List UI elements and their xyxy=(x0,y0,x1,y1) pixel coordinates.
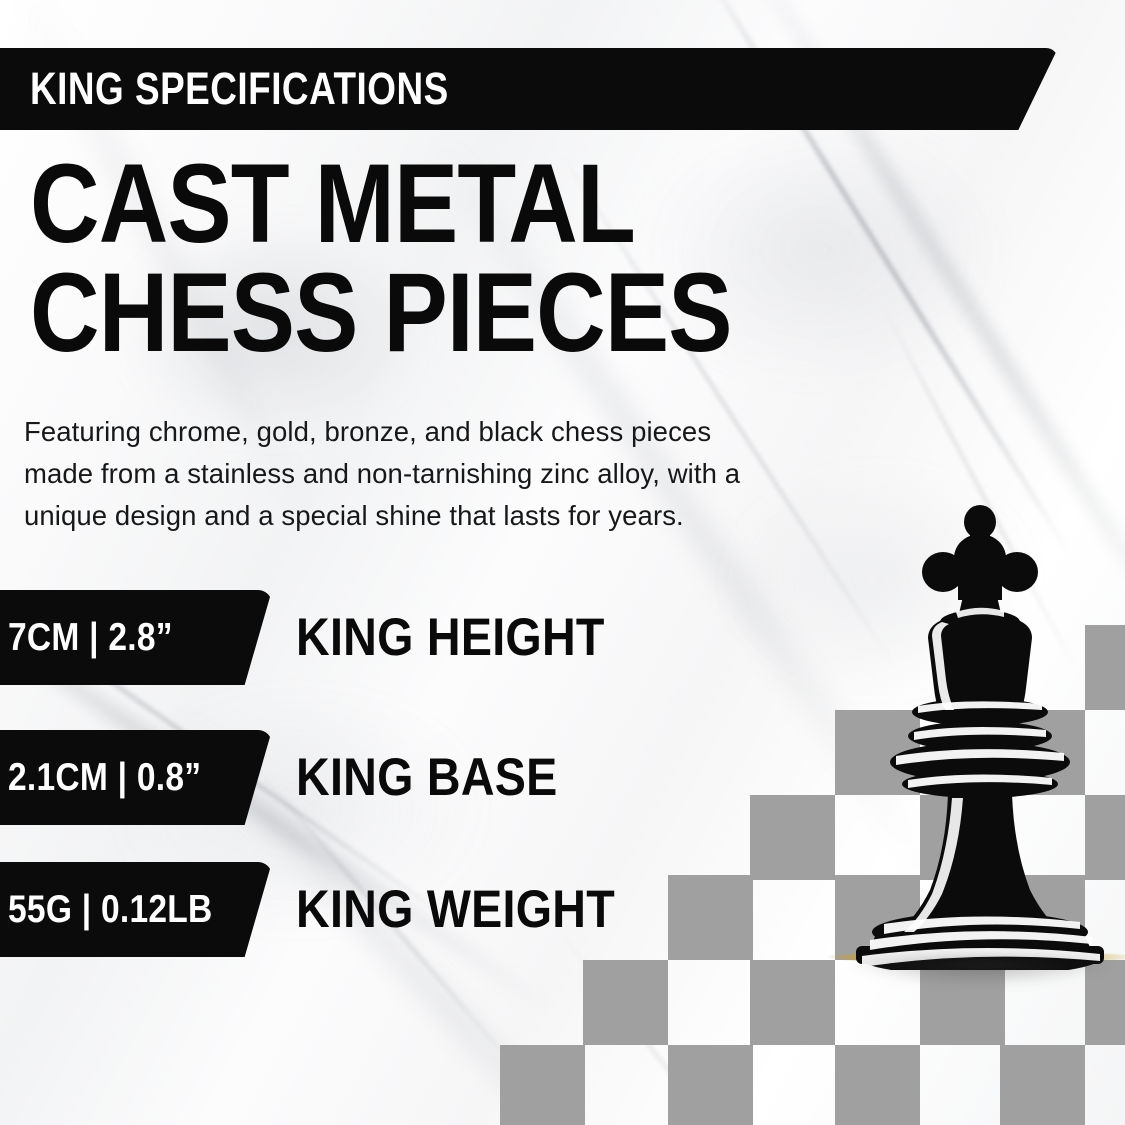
spec-value-text: 7CM | 2.8” xyxy=(8,616,173,660)
poster-root: KING SPECIFICATIONS CAST METAL CHESS PIE… xyxy=(0,0,1125,1125)
page-title-line-1: CAST METAL xyxy=(30,150,684,259)
page-title-line-2: CHESS PIECES xyxy=(30,259,684,368)
spec-label-text: KING BASE xyxy=(296,747,558,808)
header-banner: KING SPECIFICATIONS xyxy=(0,48,1058,130)
spec-label-text: KING HEIGHT xyxy=(296,607,605,668)
spec-value-tag: 7CM | 2.8” xyxy=(0,590,272,685)
spec-label: KING HEIGHT xyxy=(296,590,647,685)
product-description: Featuring chrome, gold, bronze, and blac… xyxy=(24,411,754,536)
header-banner-title: KING SPECIFICATIONS xyxy=(30,63,449,115)
spec-value-tag: 55G | 0.12LB xyxy=(0,862,272,957)
spec-label-text: KING WEIGHT xyxy=(296,879,615,940)
spec-label: KING BASE xyxy=(296,730,593,825)
spec-value-text: 55G | 0.12LB xyxy=(8,888,213,932)
piece-shadow xyxy=(846,958,1116,986)
spec-value-tag: 2.1CM | 0.8” xyxy=(0,730,272,825)
spec-label: KING WEIGHT xyxy=(296,862,659,957)
spec-value-text: 2.1CM | 0.8” xyxy=(8,756,201,800)
chess-king-piece xyxy=(830,500,1125,970)
page-title: CAST METAL CHESS PIECES xyxy=(30,150,790,367)
